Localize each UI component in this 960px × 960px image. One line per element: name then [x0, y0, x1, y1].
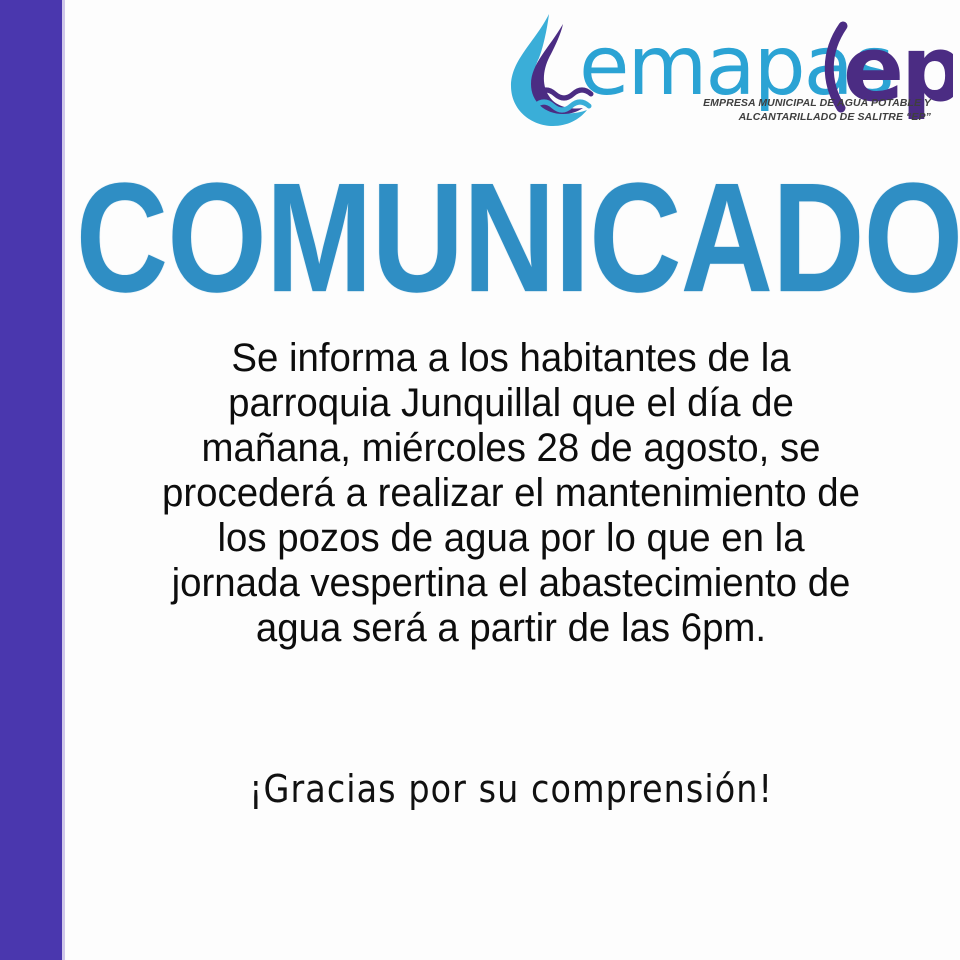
notice-body-line: parroquia Junquillal que el día de [80, 381, 942, 426]
notice-body-line: los pozos de agua por lo que en la [80, 516, 942, 561]
notice-body: Se informa a los habitantes de la parroq… [62, 336, 960, 651]
notice-body-line: mañana, miércoles 28 de agosto, se [80, 426, 942, 471]
page-title: COMUNICADO [76, 172, 960, 304]
notice-body-line: jornada vespertina el abastecimiento de [80, 561, 942, 606]
comunicado-poster: emapas ep EMPRESA MUNICIPAL DE AGUA POTA… [0, 0, 960, 960]
left-purple-band [0, 0, 62, 960]
logo-tagline: EMPRESA MUNICIPAL DE AGUA POTABLE Y ALCA… [631, 96, 931, 124]
closing-message: ¡Gracias por su comprensión! [116, 766, 906, 812]
notice-body-line: agua será a partir de las 6pm. [80, 606, 942, 651]
notice-body-line: procederá a realizar el mantenimiento de [80, 471, 942, 516]
headline-container: COMUNICADO [62, 172, 960, 284]
emapas-ep-logo: emapas ep EMPRESA MUNICIPAL DE AGUA POTA… [505, 8, 953, 136]
notice-body-line: Se informa a los habitantes de la [80, 336, 942, 381]
